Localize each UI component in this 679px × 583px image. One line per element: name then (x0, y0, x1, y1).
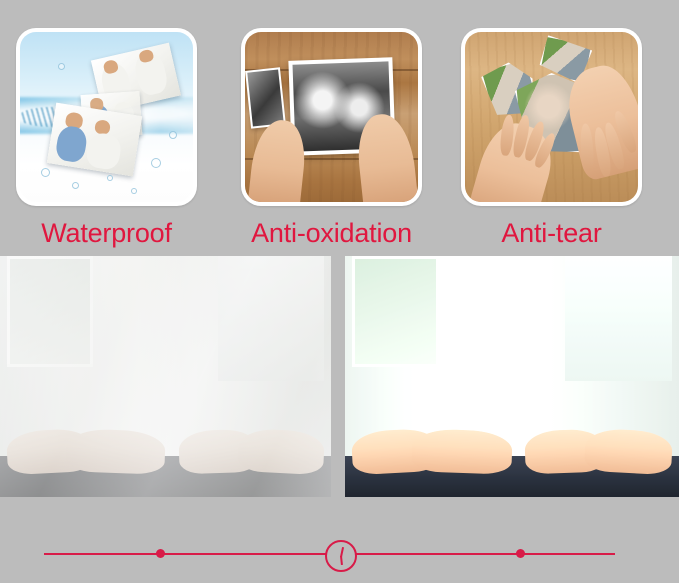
water-droplet (107, 175, 113, 181)
hands-over-torn-photo-pieces-image (465, 32, 638, 202)
vivid-scene (345, 256, 679, 497)
water-droplet (72, 182, 79, 189)
figure-shape (85, 131, 123, 170)
arm (411, 428, 513, 475)
photo-splashing-in-water-image (20, 32, 193, 202)
water-droplet (169, 131, 177, 139)
feature-label-anti-oxidation: Anti-oxidation (241, 216, 422, 250)
window-right (565, 256, 672, 381)
figure-shape (54, 124, 89, 164)
feature-card-row: Waterproof Anti-oxidation Anti-tear (0, 0, 679, 255)
water-droplet (58, 63, 65, 70)
feature-card-anti-tear[interactable] (461, 28, 642, 206)
folded-arms (345, 430, 679, 473)
clock-circle-ornament (325, 540, 357, 572)
comparison-photo-row (0, 256, 679, 497)
bottom-divider (0, 526, 679, 583)
divider-dot-right (516, 549, 525, 558)
vivid-family-photo (345, 256, 679, 497)
feature-card-anti-oxidation[interactable] (241, 28, 422, 206)
window (352, 256, 439, 367)
faded-family-photo (0, 256, 331, 497)
feature-card-waterproof[interactable] (16, 28, 197, 206)
feature-label-anti-tear: Anti-tear (461, 216, 642, 250)
clock-hand-icon (340, 556, 343, 565)
finger (579, 123, 594, 172)
hands-holding-black-and-white-photo-image (245, 32, 418, 202)
fade-haze-overlay (0, 256, 331, 497)
feature-label-waterproof: Waterproof (16, 216, 197, 250)
divider-dot-left (156, 549, 165, 558)
arm (584, 427, 673, 475)
photo-print-bottom (47, 102, 142, 176)
family-scene (345, 256, 679, 497)
water-droplet (41, 168, 50, 177)
